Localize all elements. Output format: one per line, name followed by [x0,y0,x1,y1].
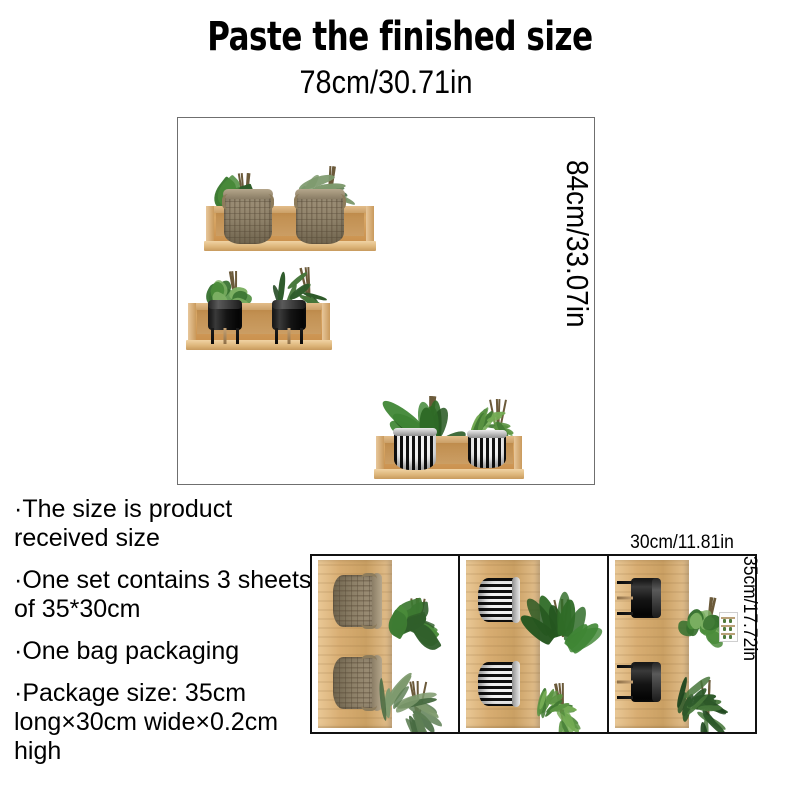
pot-black-cylinder [617,578,661,618]
pot-rattan-basket [333,575,379,627]
preview-panel [177,117,595,485]
list-item: ·The size is product received size [14,495,314,553]
list-item: ·One set contains 3 sheets of 35*30cm [14,566,314,624]
preview-height-label: 84cm/33.07in [561,160,595,430]
mini-shelf-sticker-icon [719,612,738,642]
pot-striped [468,432,506,468]
list-item: ·Package size: 35cm long×30cm wide×0.2cm… [14,679,314,766]
pot-striped [478,578,518,622]
sheet-strip [310,554,757,734]
sheet-1 [312,556,460,732]
product-info-list: ·The size is product received size ·One … [14,495,314,779]
pot-rattan-basket [296,192,344,244]
preview-width-label: 78cm/30.71in [198,64,574,101]
pot-black-cylinder [617,662,661,702]
pot-striped [478,662,518,706]
pot-rattan-basket [224,192,272,244]
sheet-3 [609,556,755,732]
sheet-height-label: 35cm/17.72in [736,556,760,758]
sheet-2 [460,556,608,732]
page-title: Paste the finished size [56,14,744,60]
pot-rattan-basket [333,657,379,709]
pot-striped [394,430,436,470]
pot-black-cylinder [208,300,242,344]
sheet-width-label: 30cm/11.81in [608,532,755,554]
list-item: ·One bag packaging [14,637,314,666]
pot-black-cylinder [272,300,306,344]
